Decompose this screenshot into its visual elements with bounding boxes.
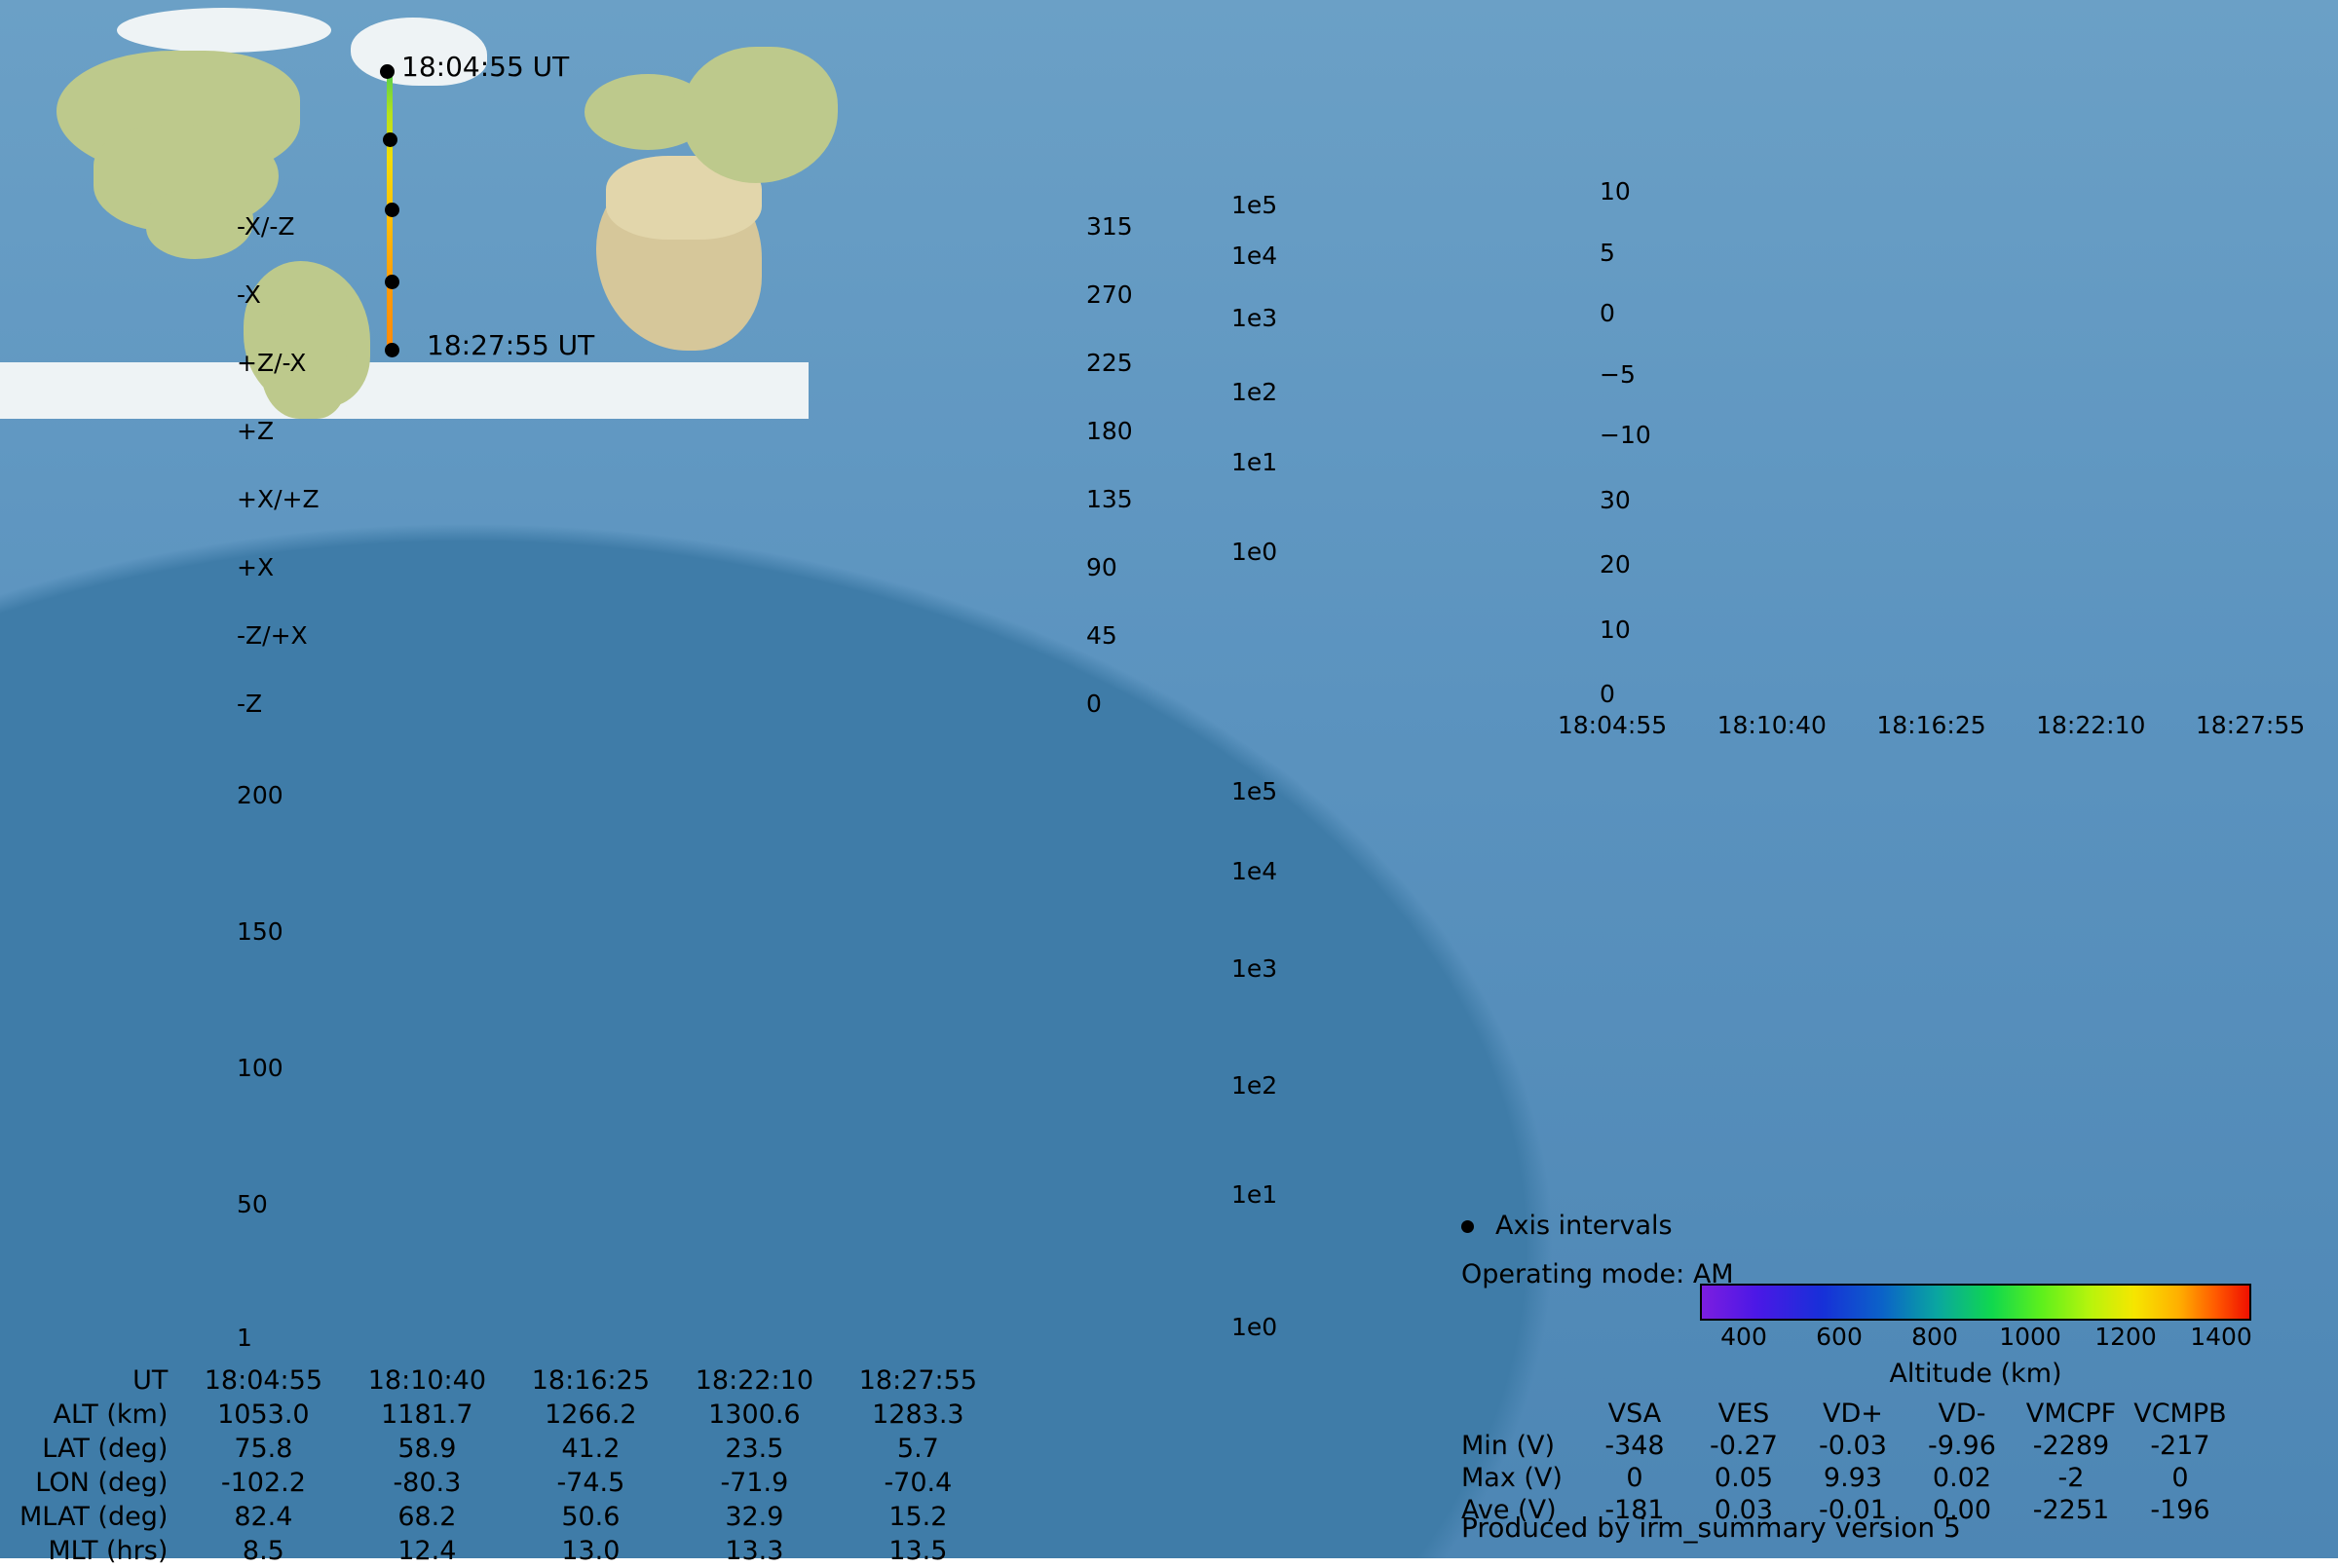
altitude-tick: 1200 <box>2077 1323 2174 1351</box>
footer-text: Produced by irm_summary version 5 <box>1461 1512 1961 1544</box>
voltage-column-header: VES <box>1689 1398 1798 1430</box>
track-point <box>385 275 399 289</box>
ephemeris-cell: 5.7 <box>836 1432 999 1466</box>
voltage-column-header: VD+ <box>1798 1398 1907 1430</box>
tof-colorbar-tick: 1e3 <box>1231 954 1277 983</box>
altitude-tick: 1400 <box>2172 1323 2270 1351</box>
ephemeris-cell: 18:22:10 <box>672 1363 836 1398</box>
track-point <box>383 132 397 147</box>
ephemeris-row-label: MLT (hrs) <box>19 1534 181 1568</box>
ephemeris-cell: 68.2 <box>345 1500 509 1534</box>
voltage-cell: 0 <box>2126 1462 2235 1494</box>
voltage-cell: -196 <box>2126 1494 2235 1526</box>
ephemeris-cell: 8.5 <box>181 1534 345 1568</box>
ephemeris-cell: 82.4 <box>181 1500 345 1534</box>
table-row: MLAT (deg)82.468.250.632.915.2 <box>19 1500 999 1534</box>
pixel-colorbar-tick: 1e0 <box>1231 538 1277 566</box>
track-point <box>385 203 399 217</box>
tof-colorbar-tick: 1e2 <box>1231 1071 1277 1100</box>
pixel-colorbar-tick: 1e2 <box>1231 378 1277 406</box>
altitude-colorbar <box>1700 1284 2251 1321</box>
right-panels-xtick: 18:27:55 <box>2153 711 2338 739</box>
voltage-cell: -348 <box>1580 1430 1689 1462</box>
ephemeris-cell: 13.5 <box>836 1534 999 1568</box>
voltage-cell: -0.03 <box>1798 1430 1907 1462</box>
voltage-cell: 0.05 <box>1689 1462 1798 1494</box>
ephemeris-cell: 23.5 <box>672 1432 836 1466</box>
voltage-cell: 0 <box>1580 1462 1689 1494</box>
ephemeris-row-label: MLAT (deg) <box>19 1500 181 1534</box>
sc-axis-y2tick: 45 <box>1086 621 1117 650</box>
tof-colorbar-tick: 1e4 <box>1231 857 1277 885</box>
ephemeris-cell: 18:27:55 <box>836 1363 999 1398</box>
voltage-column-header: VMCPF <box>2017 1398 2126 1430</box>
table-row: ALT (km)1053.01181.71266.21300.61283.3 <box>19 1398 999 1432</box>
voltage-row-label: Min (V) <box>1461 1430 1580 1462</box>
ephemeris-cell: 1053.0 <box>181 1398 345 1432</box>
ephemeris-cell: 1266.2 <box>509 1398 672 1432</box>
voltage-table: VSAVESVD+VD-VMCPFVCMPBMin (V)-348-0.27-0… <box>1461 1398 2235 1526</box>
ephemeris-cell: 41.2 <box>509 1432 672 1466</box>
sc-axis-y2tick: 270 <box>1086 280 1133 309</box>
ephemeris-cell: 58.9 <box>345 1432 509 1466</box>
tof-colorbar-tick: 1e5 <box>1231 777 1277 805</box>
sc-axis-y2tick: 90 <box>1086 553 1117 581</box>
sc-axis-y2tick: 225 <box>1086 349 1133 377</box>
ephemeris-cell: 18:10:40 <box>345 1363 509 1398</box>
altitude-colorbar-label: Altitude (km) <box>1700 1359 2251 1389</box>
sc-axis-y2tick: 315 <box>1086 212 1133 241</box>
pixel-colorbar-tick: 1e5 <box>1231 191 1277 219</box>
tof-colorbar-tick: 1e0 <box>1231 1313 1277 1341</box>
voltage-corner <box>1461 1398 1580 1430</box>
tof-colorbar-tick: 1e1 <box>1231 1180 1277 1209</box>
voltage-cell: -0.27 <box>1689 1430 1798 1462</box>
ephemeris-cell: 12.4 <box>345 1534 509 1568</box>
voltage-column-header: VCMPB <box>2126 1398 2235 1430</box>
ephemeris-cell: -80.3 <box>345 1466 509 1500</box>
voltage-cell: -9.96 <box>1907 1430 2017 1462</box>
sc-axis-y2tick: 0 <box>1086 690 1102 718</box>
voltage-row-label: Max (V) <box>1461 1462 1580 1494</box>
track-point-end <box>385 343 399 357</box>
axis-intervals-legend: Axis intervals <box>1461 1211 1673 1241</box>
voltage-cell: 9.93 <box>1798 1462 1907 1494</box>
ephemeris-row-label: ALT (km) <box>19 1398 181 1432</box>
voltage-cell: -2251 <box>2017 1494 2126 1526</box>
voltage-column-header: VD- <box>1907 1398 2017 1430</box>
table-row: MLT (hrs)8.512.413.013.313.5 <box>19 1534 999 1568</box>
altitude-tick: 600 <box>1791 1323 1888 1351</box>
ephemeris-cell: 75.8 <box>181 1432 345 1466</box>
altitude-tick: 1000 <box>1981 1323 2079 1351</box>
ephemeris-cell: 18:04:55 <box>181 1363 345 1398</box>
ephemeris-cell: 50.6 <box>509 1500 672 1534</box>
ephemeris-cell: 15.2 <box>836 1500 999 1534</box>
table-row: Min (V)-348-0.27-0.03-9.96-2289-217 <box>1461 1430 2235 1462</box>
ground-track-map[interactable]: 18:04:55 UT 18:27:55 UT <box>0 0 809 419</box>
table-row: LON (deg)-102.2-80.3-74.5-71.9-70.4 <box>19 1466 999 1500</box>
black-dot-icon <box>1461 1220 1474 1233</box>
ephemeris-cell: 13.0 <box>509 1534 672 1568</box>
ephemeris-row-label: UT <box>19 1363 181 1398</box>
table-row: UT18:04:5518:10:4018:16:2518:22:1018:27:… <box>19 1363 999 1398</box>
ephemeris-cell: 13.3 <box>672 1534 836 1568</box>
altitude-tick: 400 <box>1695 1323 1792 1351</box>
sc-axis-y2tick: 180 <box>1086 417 1133 445</box>
table-header-row: VSAVESVD+VD-VMCPFVCMPB <box>1461 1398 2235 1430</box>
map-start-label: 18:04:55 UT <box>401 51 569 83</box>
table-row: LAT (deg)75.858.941.223.55.7 <box>19 1432 999 1466</box>
ephemeris-cell: -102.2 <box>181 1466 345 1500</box>
pixel-colorbar-tick: 1e1 <box>1231 448 1277 476</box>
ephemeris-cell: 1300.6 <box>672 1398 836 1432</box>
pixel-colorbar-tick: 1e4 <box>1231 242 1277 270</box>
voltage-cell: 0.02 <box>1907 1462 2017 1494</box>
axis-intervals-label: Axis intervals <box>1495 1211 1673 1241</box>
ephemeris-row-label: LAT (deg) <box>19 1432 181 1466</box>
ephemeris-cell: 32.9 <box>672 1500 836 1534</box>
voltage-column-header: VSA <box>1580 1398 1689 1430</box>
altitude-tick: 800 <box>1886 1323 1983 1351</box>
voltage-cell: -2 <box>2017 1462 2126 1494</box>
pixel-colorbar-tick: 1e3 <box>1231 304 1277 332</box>
track-point-start <box>380 64 395 79</box>
sc-axis-y2tick: 135 <box>1086 485 1133 513</box>
table-row: Max (V)00.059.930.02-20 <box>1461 1462 2235 1494</box>
ephemeris-cell: 1283.3 <box>836 1398 999 1432</box>
ephemeris-cell: 1181.7 <box>345 1398 509 1432</box>
ephemeris-cell: -74.5 <box>509 1466 672 1500</box>
voltage-cell: -217 <box>2126 1430 2235 1462</box>
operating-mode: Operating mode: AM <box>1461 1259 1734 1289</box>
map-end-label: 18:27:55 UT <box>427 329 594 361</box>
ephemeris-row-label: LON (deg) <box>19 1466 181 1500</box>
voltage-cell: -2289 <box>2017 1430 2126 1462</box>
ephemeris-cell: 18:16:25 <box>509 1363 672 1398</box>
ephemeris-cell: -71.9 <box>672 1466 836 1500</box>
ephemeris-cell: -70.4 <box>836 1466 999 1500</box>
ephemeris-table: UT18:04:5518:10:4018:16:2518:22:1018:27:… <box>19 1363 999 1568</box>
